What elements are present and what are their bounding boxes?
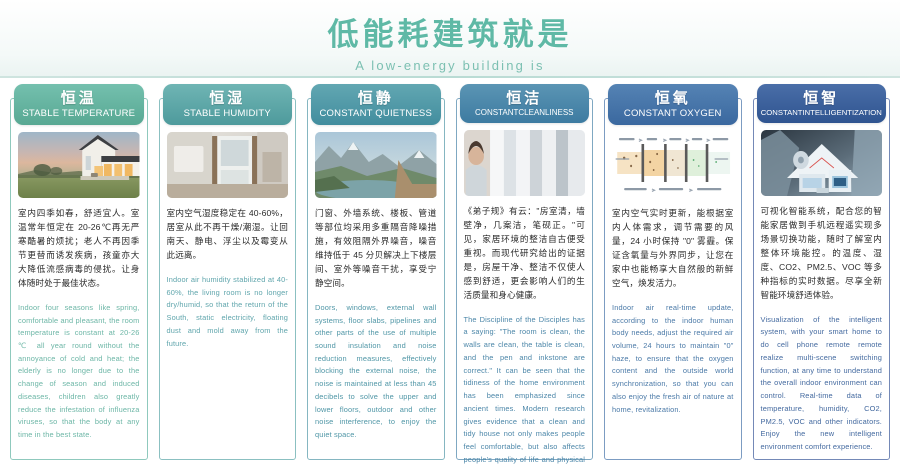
card-text-cn: 门窗、外墙系统、楼板、管道等部位均采用多重隔音降噪措施，有效阻隔外界噪音，噪音维…	[315, 207, 437, 291]
mountain-lake-landscape-photo	[315, 132, 437, 198]
card-header-banner: 恒静 CONSTANT QUIETNESS	[311, 84, 441, 125]
card-text-en: Indoor air real-time update, according t…	[612, 302, 734, 417]
card-header-banner: 恒氧 CONSTANT OXYGEN	[608, 84, 738, 125]
card-title-cn: 恒温	[18, 90, 140, 107]
card-title-en: CONSTANT OXYGEN	[612, 108, 734, 119]
card-title-en: CONSTANTINTELLIGENTIZATION	[761, 108, 883, 117]
card-header-banner: 恒温 STABLE TEMPERATURE	[14, 84, 144, 125]
card-title-en: STABLE TEMPERATURE	[18, 108, 140, 119]
card-header-banner: 恒湿 STABLE HUMIDITY	[163, 84, 293, 125]
feature-card-stable-humidity[interactable]: 恒湿 STABLE HUMIDITY	[157, 84, 299, 464]
modern-house-at-dusk-photo	[18, 132, 140, 198]
feature-card-constant-cleanliness[interactable]: 恒洁 CONSTANTCLEANLINESS	[454, 84, 596, 464]
feature-card-stable-temperature[interactable]: 恒温 STABLE TEMPERATURE	[8, 84, 150, 464]
page-title-cn: 低能耗建筑就是	[328, 19, 573, 50]
page-header: 低能耗建筑就是 A low-energy building is	[0, 0, 900, 78]
bright-interior-room-photo	[167, 132, 289, 198]
card-text-cn: 室内空气湿度稳定在 40-60%，居室从此不再干燥/潮湿。让回南天、静电、浮尘以…	[167, 207, 289, 263]
card-text-en: Doors, windows, external wall systems, f…	[315, 302, 437, 442]
card-text-en: Indoor air humidity stabilized at 40-60%…	[167, 274, 289, 350]
infographic-page: 低能耗建筑就是 A low-energy building is 恒温 STAB…	[0, 0, 900, 464]
card-text-cn: 室内四季如春，舒适宜人。室温常年恒定在 20-26℃再无严寒酷暑的烦扰；老人不再…	[18, 207, 140, 291]
card-text-en: Visualization of the intelligent system,…	[761, 314, 883, 454]
feature-card-constant-quietness[interactable]: 恒静 CONSTANT QUIETNESS	[305, 84, 447, 464]
card-header-banner: 恒智 CONSTANTINTELLIGENTIZATION	[757, 84, 887, 123]
header-divider	[0, 76, 900, 78]
card-title-en: CONSTANTCLEANLINESS	[464, 108, 586, 117]
card-title-en: STABLE HUMIDITY	[167, 108, 289, 119]
feature-card-deck: 恒温 STABLE TEMPERATURE	[0, 78, 900, 464]
card-text-cn: 可视化智能系统，配合您的智能家居做到手机远程遥实现多场景切换功能，随时了解室内整…	[761, 205, 883, 302]
page-title-en: A low-energy building is	[355, 58, 544, 73]
feature-card-constant-oxygen[interactable]: 恒氧 CONSTANT OXYGEN	[602, 84, 744, 464]
card-text-en: Indoor four seasons like spring, comfort…	[18, 302, 140, 442]
clean-bedroom-woman-photo	[464, 130, 586, 196]
card-title-cn: 恒智	[761, 90, 883, 107]
card-text-en: The Discipline of the Disciples has a sa…	[464, 314, 586, 464]
card-title-cn: 恒氧	[612, 90, 734, 107]
card-title-cn: 恒静	[315, 90, 437, 107]
card-title-cn: 恒湿	[167, 90, 289, 107]
card-title-cn: 恒洁	[464, 90, 586, 107]
card-header-banner: 恒洁 CONSTANTCLEANLINESS	[460, 84, 590, 123]
smart-home-system-diagram	[761, 130, 883, 196]
card-title-en: CONSTANT QUIETNESS	[315, 108, 437, 119]
card-text-cn: 《弟子规》有云："房室清，墙壁净，几案洁，笔砚正。"可见，家居环境的整洁自古便受…	[464, 205, 586, 302]
air-filtration-layers-diagram	[612, 132, 734, 198]
feature-card-constant-intelligentization[interactable]: 恒智 CONSTANTINTELLIGENTIZATION	[751, 84, 893, 464]
card-text-cn: 室内空气实时更新，能根据室内人体需求，调节需要的风量，24 小时保持 "0" 雾…	[612, 207, 734, 291]
